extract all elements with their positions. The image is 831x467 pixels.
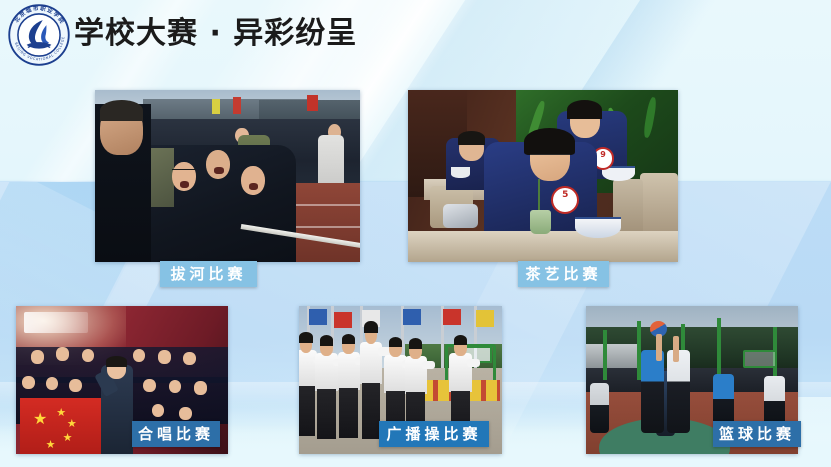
slide-canvas: 北京城市职业学院 BEIJING VOCATIONAL COLLEGE 学校大赛…	[0, 0, 831, 467]
caption-tug-of-war: 拔河比赛	[160, 261, 257, 287]
caption-tea-art: 茶艺比赛	[518, 261, 609, 287]
school-crest-logo: 北京城市职业学院 BEIJING VOCATIONAL COLLEGE	[8, 4, 70, 66]
photo-tea-art[interactable]: 9 5	[408, 90, 678, 262]
caption-basketball: 篮球比赛	[713, 421, 801, 447]
photo-scene	[95, 90, 360, 262]
photo-tug-of-war[interactable]	[95, 90, 360, 262]
page-title: 学校大赛 · 异彩纷呈	[74, 13, 357, 55]
caption-broadcast-gymnastics: 广播操比赛	[379, 421, 489, 447]
photo-scene: 9 5	[408, 90, 678, 262]
caption-chorus: 合唱比赛	[132, 421, 220, 447]
slide-header: 北京城市职业学院 BEIJING VOCATIONAL COLLEGE 学校大赛…	[0, 0, 831, 70]
